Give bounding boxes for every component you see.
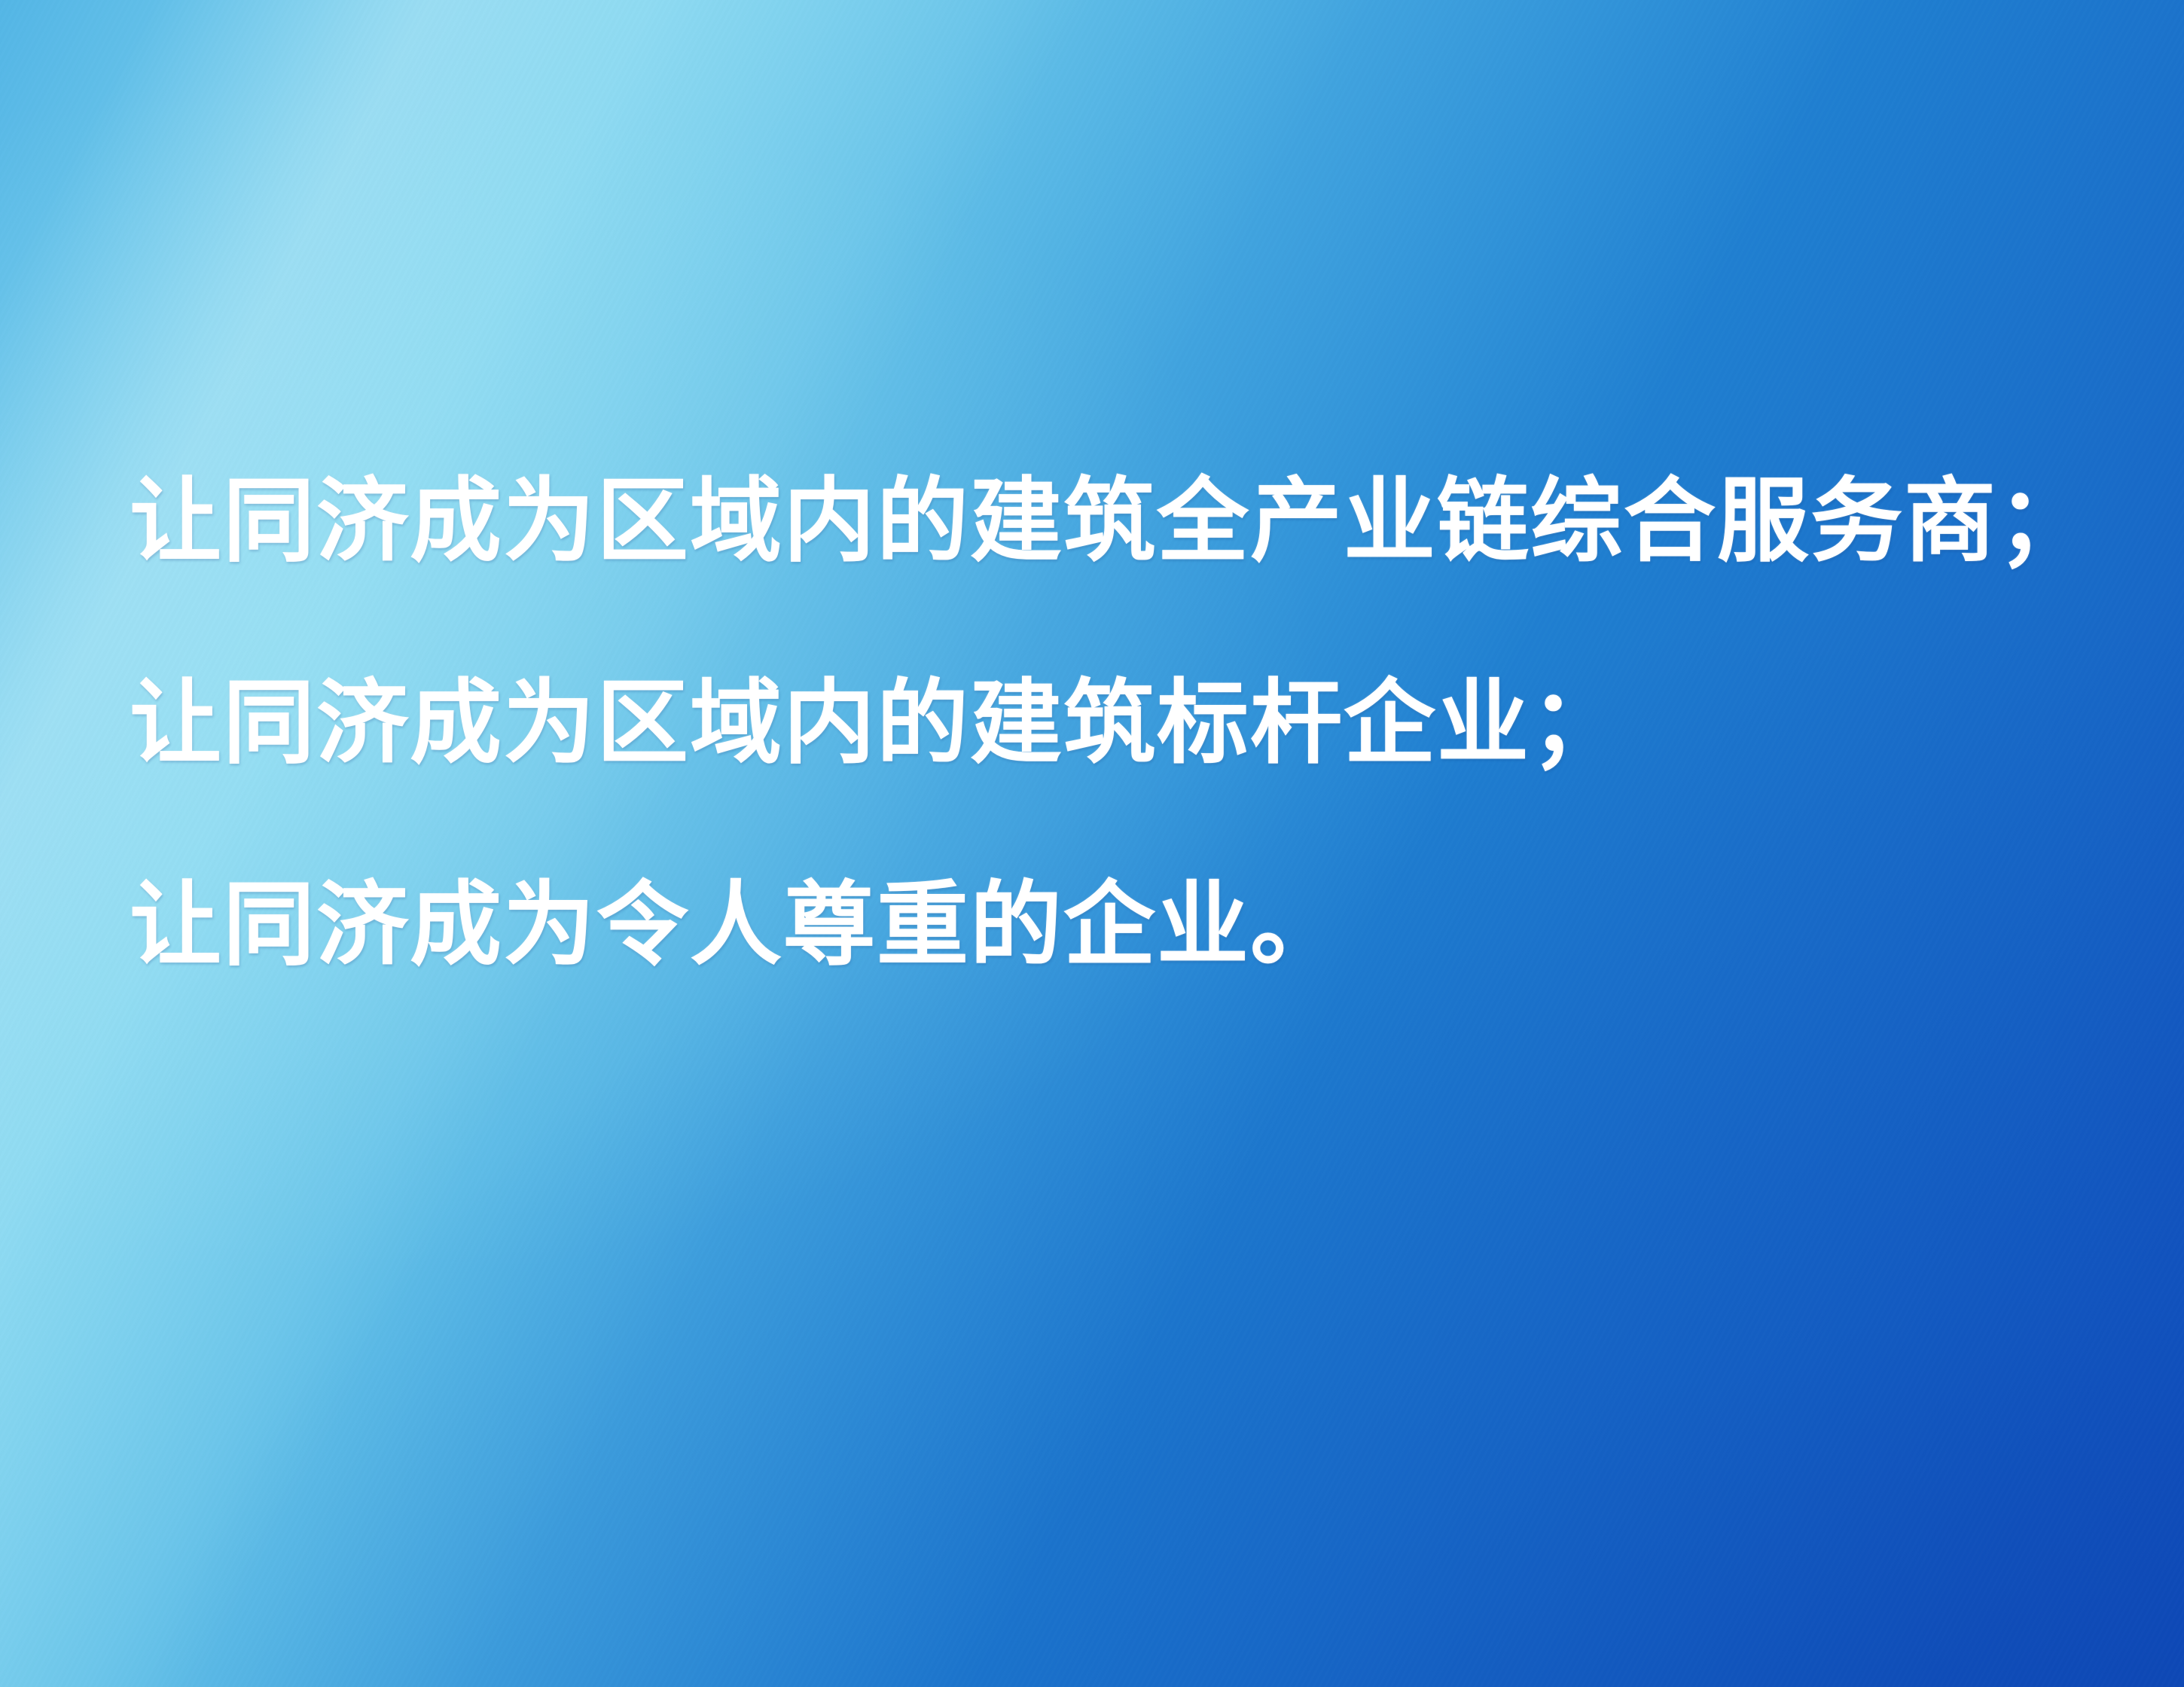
vision-line-1: 让同济成为区域内的建筑全产业链综合服务商； [130,449,2088,596]
vision-statement-block: 让同济成为区域内的建筑全产业链综合服务商； 让同济成为区域内的建筑标杆企业； 让… [130,449,2088,1000]
presentation-slide: 让同济成为区域内的建筑全产业链综合服务商； 让同济成为区域内的建筑标杆企业； 让… [0,0,2184,1687]
vision-line-2: 让同济成为区域内的建筑标杆企业； [130,651,2088,798]
vision-line-3: 让同济成为令人尊重的企业。 [130,853,2088,1000]
